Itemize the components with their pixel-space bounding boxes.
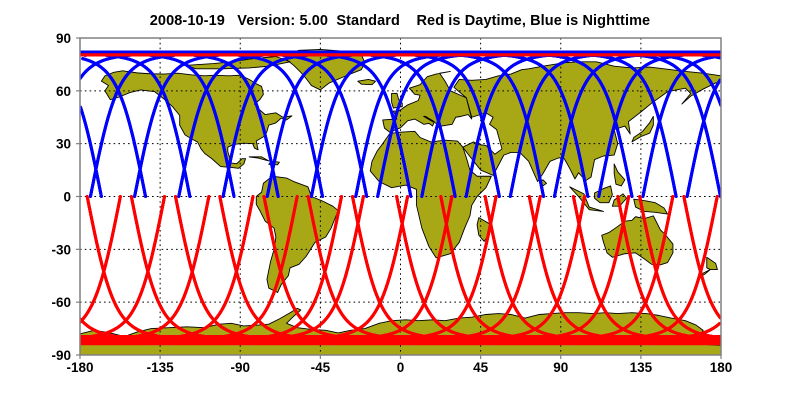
y-tick-label: -90 [51,348,71,363]
y-tick-label: 30 [56,137,71,152]
y-axis-tick-labels: -90-60-300306090 [51,31,80,363]
x-tick-label: -90 [230,360,250,375]
x-axis-tick-labels: -180-135-90-4504590135180 [66,355,732,375]
y-tick-label: 60 [56,84,71,99]
y-tick-label: -60 [51,295,71,310]
y-tick-label: 90 [56,31,71,46]
ground-track-plot: -180-135-90-4504590135180 -90-60-3003060… [0,0,800,400]
x-tick-label: 180 [710,360,733,375]
y-tick-label: -30 [51,242,71,257]
x-tick-label: 90 [553,360,568,375]
x-tick-label: -45 [311,360,331,375]
ground-track-figure: 2008-10-19 Version: 5.00 Standard Red is… [0,0,800,400]
x-tick-label: 0 [397,360,405,375]
x-tick-label: 45 [473,360,489,375]
y-tick-label: 0 [63,190,71,205]
x-tick-label: 135 [630,360,653,375]
x-tick-label: -135 [147,360,175,375]
